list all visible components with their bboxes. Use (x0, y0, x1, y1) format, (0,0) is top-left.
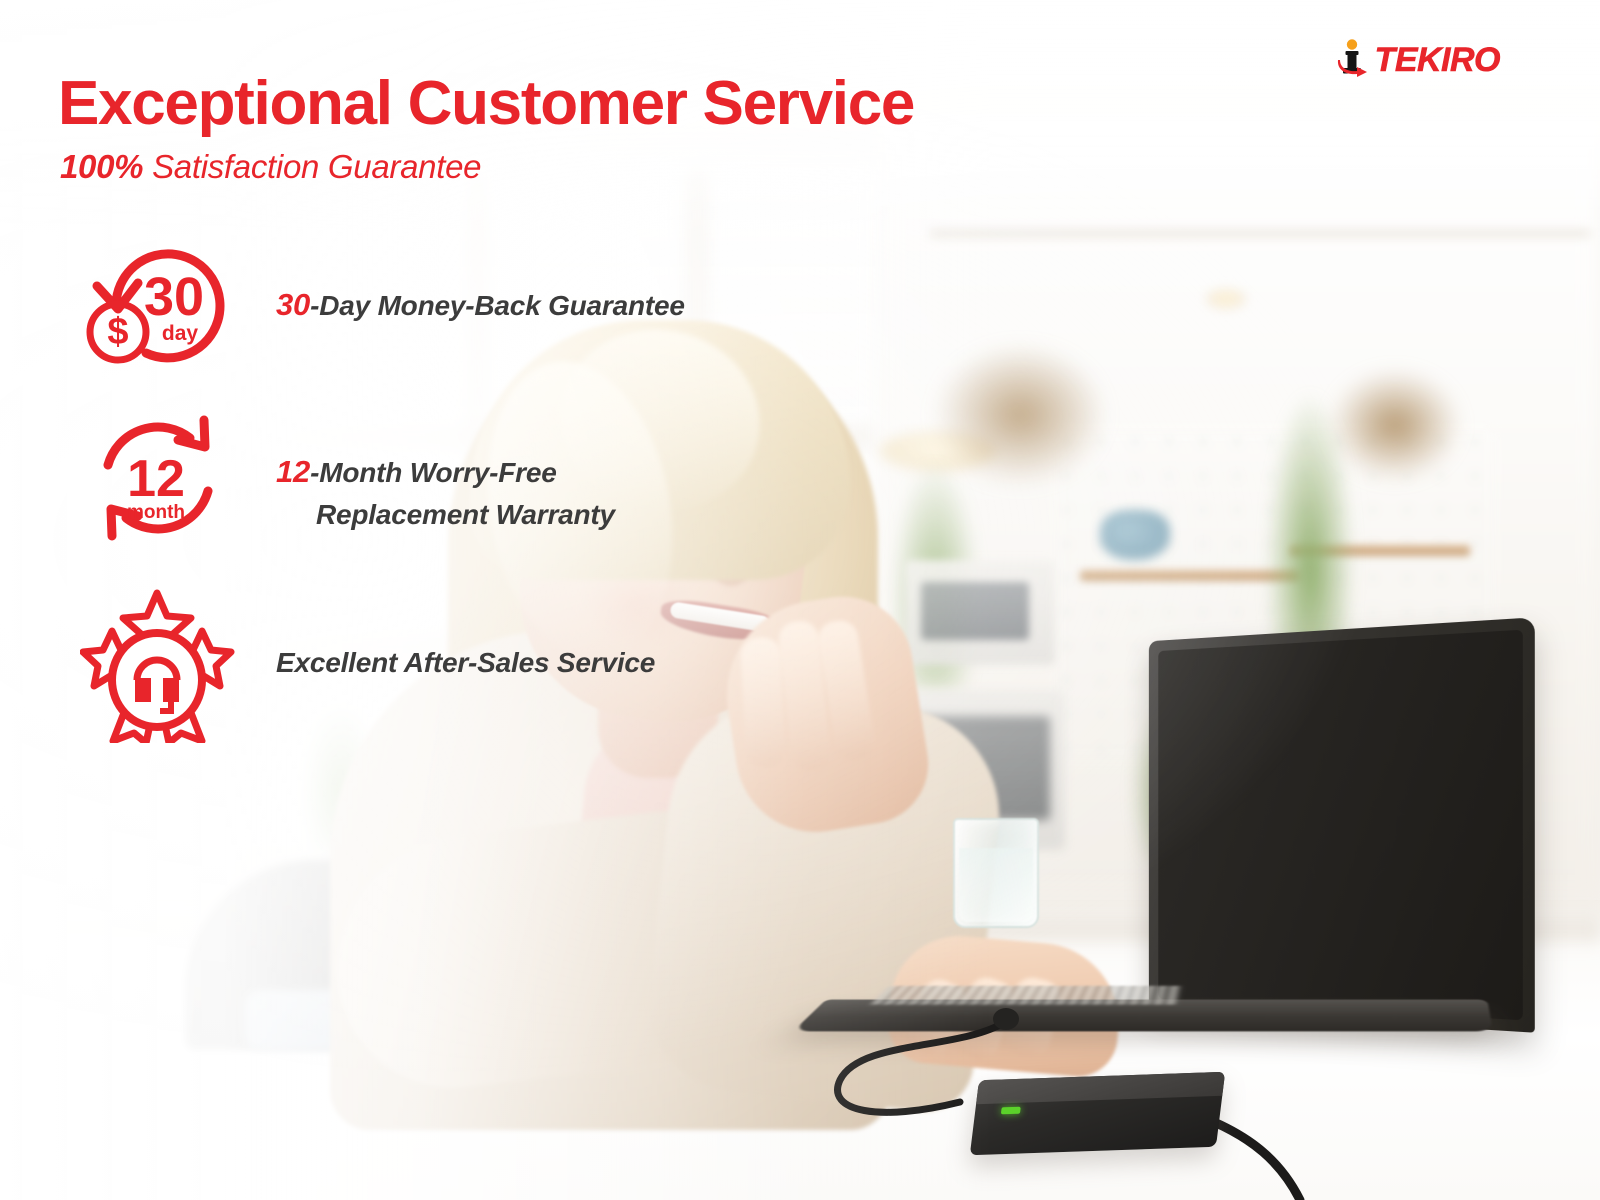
money-back-30-day-icon: $ 30 day (80, 243, 240, 373)
12-month-replacement-cycle-icon: 12 month (86, 408, 231, 548)
feature-text-money-back: 30-Day Money-Back Guarantee (276, 283, 685, 328)
icon-unit-day: day (162, 322, 199, 345)
feature-highlight-12: 12 (276, 454, 310, 489)
feature-label-replacement: -Month Worry-Free (310, 457, 557, 488)
tekiro-tool-logo-icon (1336, 38, 1372, 82)
dollar-sign-label: $ (107, 311, 128, 353)
headset-earcup-right (163, 678, 179, 702)
page-subtitle: 100% Satisfaction Guarantee (60, 148, 481, 186)
medal-circle (112, 633, 202, 727)
subtitle-percent: 100% (60, 148, 143, 185)
feature-label-money-back: -Day Money-Back Guarantee (310, 290, 685, 321)
brand-wordmark: TEKIRO (1375, 43, 1500, 77)
brand-logo[interactable]: TEKIRO (1336, 38, 1500, 82)
promo-banner: TEKIRO Exceptional Customer Service 100%… (0, 0, 1600, 1200)
feature-text-after-sales: Excellent After-Sales Service (276, 643, 655, 684)
feature-icon-replacement: 12 month (86, 408, 231, 553)
feature-label-after-sales: Excellent After-Sales Service (276, 647, 655, 678)
feature-icon-after-sales (80, 583, 235, 748)
icon-number-12: 12 (127, 450, 185, 508)
feature-label-replacement-line2: Replacement Warranty (276, 495, 615, 536)
headset-earcup-left (135, 678, 151, 702)
subtitle-rest: Satisfaction Guarantee (143, 148, 481, 185)
feature-highlight-30: 30 (276, 287, 310, 322)
feature-text-replacement: 12-Month Worry-Free Replacement Warranty (276, 450, 615, 536)
icon-number-30: 30 (144, 267, 204, 327)
page-title: Exceptional Customer Service (58, 72, 914, 136)
feature-icon-money-back: $ 30 day (80, 243, 240, 378)
icon-unit-month: month (127, 502, 185, 523)
after-sales-service-badge-icon (80, 583, 235, 743)
